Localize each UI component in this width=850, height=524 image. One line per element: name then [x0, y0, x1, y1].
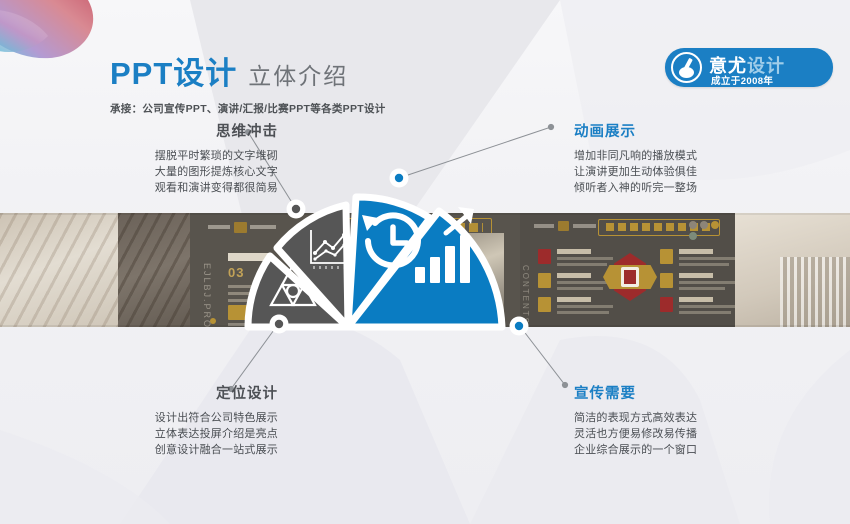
- slide-canvas: EJLBJ.PRO 03 CONTENTS: [0, 0, 850, 524]
- block-line: 企业综合展示的一个窗口: [574, 442, 774, 458]
- text-block-dingwei-sheji: 定位设计 设计出符合公司特色展示 立体表达投屏介绍是亮点 创意设计融合一站式展示: [78, 382, 278, 458]
- block-body: 摆脱平时繁琐的文字堆砌 大量的图形提炼核心文字 观看和演讲变得都很简易: [78, 148, 278, 196]
- fan-node[interactable]: [390, 169, 409, 188]
- slide-b-dots: [689, 221, 723, 243]
- text-block-donghua-zhanshi: 动画展示 增加非同凡响的播放模式 让演讲更加生动体验俱佳 倾听者入神的听完一整场: [574, 120, 774, 196]
- page-subtitle: 立体介绍: [248, 57, 348, 91]
- block-body: 简洁的表现方式高效表达 灵活也方便易修改易传播 企业综合展示的一个窗口: [574, 410, 774, 458]
- block-line: 倾听者入神的听完一整场: [574, 180, 774, 196]
- fan-node[interactable]: [510, 317, 529, 336]
- block-line: 灵活也方便易修改易传播: [574, 426, 774, 442]
- block-body: 设计出符合公司特色展示 立体表达投屏介绍是亮点 创意设计融合一站式展示: [78, 410, 278, 458]
- block-line: 设计出符合公司特色展示: [78, 410, 278, 426]
- wood-texture-left: [0, 213, 118, 327]
- block-heading: 思维冲击: [78, 120, 278, 141]
- fan-diagram: [215, 145, 635, 345]
- text-block-xuanchuan-xuyao: 宣传需要 简洁的表现方式高效表达 灵活也方便易修改易传播 企业综合展示的一个窗口: [574, 382, 774, 458]
- block-line: 摆脱平时繁琐的文字堆砌: [78, 148, 278, 164]
- fan-node[interactable]: [270, 315, 289, 334]
- brush-circle-icon: [671, 52, 702, 83]
- title-block: PPT设计立体介绍 承接：公司宣传PPT、演讲/汇报/比赛PPT等各类PPT设计: [110, 48, 386, 116]
- page-title: PPT设计: [110, 48, 237, 93]
- photo-right: [735, 213, 850, 327]
- block-heading: 定位设计: [78, 382, 278, 403]
- block-heading: 动画展示: [574, 120, 774, 141]
- gradient-blob: [0, 0, 126, 74]
- block-line: 让演讲更加生动体验俱佳: [574, 164, 774, 180]
- block-line: 简洁的表现方式高效表达: [574, 410, 774, 426]
- fan-node[interactable]: [287, 200, 306, 219]
- block-line: 大量的图形提炼核心文字: [78, 164, 278, 180]
- slide-a-sidetext: EJLBJ.PRO: [202, 263, 212, 327]
- brand-logo[interactable]: 意尤设计 成立于2008年: [665, 48, 833, 87]
- logo-established: 成立于2008年: [711, 73, 773, 87]
- block-line: 增加非同凡响的播放模式: [574, 148, 774, 164]
- block-heading: 宣传需要: [574, 382, 774, 403]
- wood-texture-dark: [118, 213, 190, 327]
- block-line: 立体表达投屏介绍是亮点: [78, 426, 278, 442]
- block-line: 观看和演讲变得都很简易: [78, 180, 278, 196]
- block-line: 创意设计融合一站式展示: [78, 442, 278, 458]
- text-block-siwei-chongji: 思维冲击 摆脱平时繁琐的文字堆砌 大量的图形提炼核心文字 观看和演讲变得都很简易: [78, 120, 278, 196]
- block-body: 增加非同凡响的播放模式 让演讲更加生动体验俱佳 倾听者入神的听完一整场: [574, 148, 774, 196]
- title-description: 承接：公司宣传PPT、演讲/汇报/比赛PPT等各类PPT设计: [110, 101, 386, 116]
